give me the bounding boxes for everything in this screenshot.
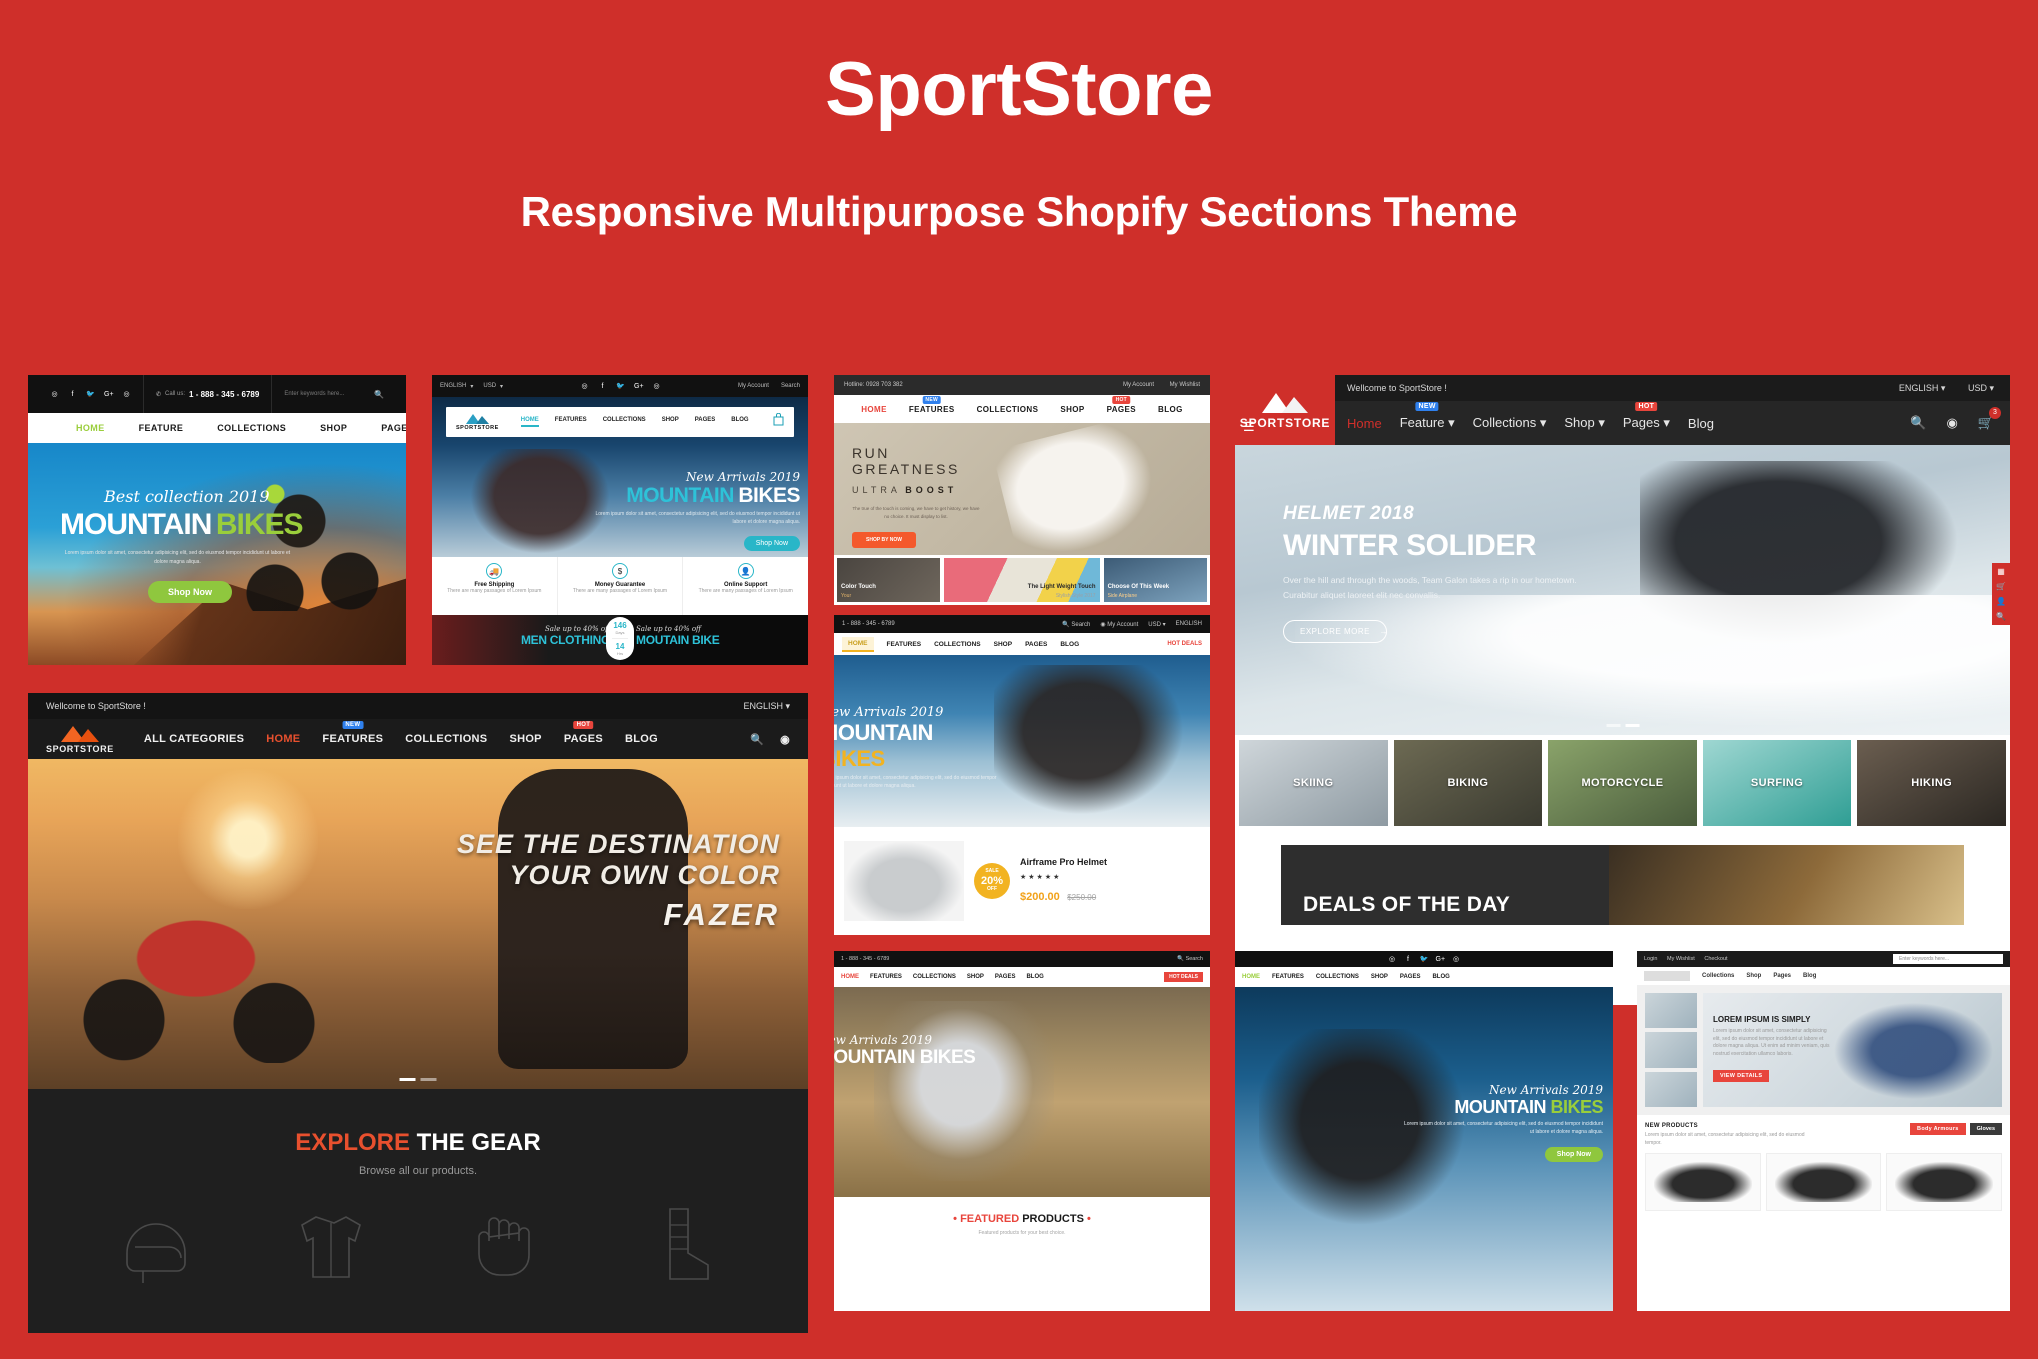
promo-title: MEN CLOTHING	[521, 633, 610, 647]
hero-paragraph: Over the hill and through the woods, Tea…	[1283, 573, 1583, 604]
shot5-hero: SEE THE DESTINATION YOUR OWN COLOR FAZER	[28, 759, 808, 1089]
nav-label: FEATURES	[322, 733, 383, 745]
hero-paragraph: Lorem ipsum dolor sit amet, consectetur …	[834, 775, 1000, 790]
phone-number: 1 - 888 - 345 - 6789	[189, 390, 259, 399]
hero-line1: SEE THE DESTINATION	[457, 829, 780, 860]
nav-label: PAGES	[1107, 405, 1136, 414]
nav-label: Collections	[1473, 415, 1537, 430]
new-products-title: NEW PRODUCTS	[1645, 1123, 1815, 1129]
hot-deals-link[interactable]: HOT DEALS	[1167, 641, 1202, 647]
feature-desc: There are many passages of Lorem Ipsum	[432, 588, 557, 596]
shot2-navbar: SPORTSTORE HOME FEATURES COLLECTIONS SHO…	[446, 407, 794, 437]
account-label: My Account	[1107, 622, 1138, 628]
hero-title: WINTER SOLIDER	[1283, 529, 1603, 563]
search-icon[interactable]: 🔍	[1910, 415, 1926, 431]
hero-paragraph: The true of the touch is coming, we have…	[852, 505, 980, 520]
nav-item-features[interactable]: FEATURES	[1272, 974, 1304, 980]
nav-item-shop[interactable]: SHOP	[1060, 405, 1084, 414]
shot5-navbar: SPORTSTORE ALL CATEGORIES HOME NEW FEATU…	[28, 719, 808, 759]
behance-icon[interactable]: ◎	[50, 390, 59, 399]
shot1-phone: ✆ Call us: 1 - 888 - 345 - 6789	[144, 375, 272, 413]
google-plus-icon[interactable]: G+	[634, 382, 643, 391]
search-icon[interactable]: 🔍	[362, 375, 396, 413]
shot2-features: 🚚 Free Shipping There are many passages …	[432, 557, 808, 615]
nav-item-collections[interactable]: COLLECTIONS	[405, 733, 487, 745]
shop-now-button[interactable]: Shop Now	[1545, 1147, 1603, 1162]
promo-kicker: Sale up to 40% off	[521, 625, 610, 633]
nav-item-home[interactable]: HOME	[841, 974, 859, 980]
hero-script: New Arrivals 2019	[834, 1033, 978, 1047]
nav-item-blog[interactable]: BLOG	[1432, 974, 1449, 980]
featured-dot-left: •	[953, 1213, 957, 1225]
nav-item-shop[interactable]: SHOP	[320, 423, 347, 433]
demo-thumb-mountain-bike-green[interactable]: ◎ f 🐦 G+ ◎ ✆ Call us: 1 - 888 - 345 - 67…	[28, 375, 406, 665]
cart-icon[interactable]: 🛒	[1996, 582, 2006, 591]
hero-script: New Arrivals 2019	[834, 705, 1000, 720]
thumb-1[interactable]	[1645, 993, 1697, 1028]
hamburger-icon[interactable]: ☰	[1243, 419, 1255, 435]
nav-item-feature[interactable]: FEATURE	[139, 423, 184, 433]
promo-men-clothing[interactable]: Sale up to 40% off MEN CLOTHING	[432, 615, 620, 665]
explore-accent: EXPLORE	[295, 1129, 410, 1156]
logo[interactable]	[1644, 971, 1690, 981]
behance-icon[interactable]: ◎	[1388, 955, 1397, 964]
instagram-icon[interactable]: ◎	[122, 390, 131, 399]
nav-item-features[interactable]: NEW FEATURES	[322, 733, 383, 745]
shot2-hero: SPORTSTORE HOME FEATURES COLLECTIONS SHO…	[432, 397, 808, 557]
hero-script: Best collection 2019	[104, 487, 320, 506]
cyclist-graphic	[994, 665, 1184, 815]
explore-heading: EXPLORE THE GEAR	[28, 1089, 808, 1157]
nav-item-blog[interactable]: BLOG	[1060, 641, 1079, 648]
explore-more-button[interactable]: EXPLORE MORE	[1283, 620, 1387, 643]
nav-item-shop[interactable]: SHOP	[662, 417, 679, 427]
hero-paragraph: Lorem ipsum dolor sit amet, consectetur …	[1403, 1121, 1603, 1136]
search-link[interactable]: 🔍 Search	[1177, 956, 1203, 962]
search-placeholder: Enter keywords here...	[284, 391, 344, 397]
nav-item-home[interactable]: Home	[1347, 416, 1382, 431]
currency-selector[interactable]: USD	[1968, 383, 1987, 393]
phone-number: 1 - 888 - 345 - 6789	[841, 956, 889, 962]
badge-hot: HOT	[1636, 402, 1658, 411]
hero-title-accent: BIKES	[1550, 1097, 1603, 1117]
nav-item-pages[interactable]: HOT Pages ▾	[1623, 415, 1670, 431]
truck-icon: 🚚	[486, 563, 502, 579]
badge-hot: HOT	[574, 721, 594, 729]
shot7-topbar: 1 - 888 - 345 - 6789 🔍 Search	[834, 951, 1210, 967]
nav-item-shop[interactable]: SHOP	[1371, 974, 1388, 980]
nav-item-blog[interactable]: BLOG	[1026, 974, 1043, 980]
feature-online-support: 👤 Online Support There are many passages…	[683, 557, 808, 615]
search-label: Search	[1186, 956, 1203, 962]
shot4-categories: SKIING BIKING MOTORCYCLE SURFING HIKING	[1235, 735, 2010, 831]
shot1-search[interactable]: Enter keywords here...	[272, 375, 362, 413]
logo-text: SPORTSTORE	[46, 744, 114, 754]
glove-icon[interactable]	[463, 1201, 549, 1287]
nav-item-pages[interactable]: Pages	[1773, 973, 1791, 979]
nav-item-collections[interactable]: COLLECTIONS	[913, 974, 956, 980]
search-label: Search	[1071, 622, 1090, 628]
page-title: SportStore	[0, 52, 2038, 128]
nav-item-home[interactable]: HOME	[266, 733, 300, 745]
currency-label: USD	[1148, 622, 1161, 628]
user-icon[interactable]: 👤	[1996, 597, 2006, 606]
badge-new: NEW	[1416, 402, 1439, 411]
currency-selector[interactable]: USD	[483, 383, 496, 389]
motocross-rider-graphic	[874, 1001, 1054, 1181]
nav-item-features[interactable]: NEW FEATURES	[909, 405, 955, 414]
nav-item-collections[interactable]: COLLECTIONS	[1316, 974, 1359, 980]
cart-badge: 3	[1989, 407, 2001, 419]
category-surfing[interactable]: SURFING	[1703, 740, 1852, 826]
demo-thumb-fazer-motorcycle[interactable]: Wellcome to SportStore ! ENGLISH ▾ SPORT…	[28, 693, 808, 1333]
shot6-hero: New Arrivals 2019 MOUNTAIN BIKES Lorem i…	[834, 655, 1210, 827]
shot7-navbar: HOME FEATURES COLLECTIONS SHOP PAGES BLO…	[834, 967, 1210, 987]
nav-label: Pages	[1623, 415, 1660, 430]
account-link[interactable]: My Account	[1123, 382, 1154, 388]
nav-item-collections[interactable]: COLLECTIONS	[217, 423, 286, 433]
nav-item-pages[interactable]: PAGES	[1400, 974, 1421, 980]
shot1-navbar: HOME FEATURE COLLECTIONS SHOP PAGES BLOG	[28, 413, 406, 443]
screenshot-grid: ◎ f 🐦 G+ ◎ ✆ Call us: 1 - 888 - 345 - 67…	[0, 375, 2038, 1335]
instagram-icon[interactable]: ◎	[652, 382, 661, 391]
phone-icon: ✆	[156, 391, 161, 398]
search-input[interactable]: Enter keywords here...	[1893, 954, 2003, 964]
card-title: Color Touch	[841, 584, 876, 590]
explore-rest: THE GEAR	[417, 1129, 541, 1156]
dollar-icon: $	[612, 563, 628, 579]
shot9-topbar: Login My Wishlist Checkout Enter keyword…	[1637, 951, 2010, 967]
card-color-touch[interactable]: Color Touch Your	[837, 558, 940, 602]
nav-item-home[interactable]: HOME	[842, 637, 874, 652]
hero-brand: FAZER	[457, 897, 780, 933]
sneaker-graphic	[992, 415, 1166, 566]
hero-title-accent: BIKES	[834, 746, 885, 771]
shop-now-button[interactable]: SHOP BY NOW	[852, 532, 916, 548]
shot2-promos: Sale up to 40% off MEN CLOTHING Sale up …	[432, 615, 808, 665]
nav-item-all-categories[interactable]: ALL CATEGORIES	[144, 733, 244, 745]
masthead: SportStore Responsive Multipurpose Shopi…	[0, 0, 2038, 236]
countdown-unit: Hrs	[606, 651, 634, 656]
badge-new: NEW	[922, 396, 941, 404]
new-products-section: NEW PRODUCTS Lorem ipsum dolor sit amet,…	[1637, 1115, 2010, 1219]
feature-free-shipping: 🚚 Free Shipping There are many passages …	[432, 557, 558, 615]
nav-item-blog[interactable]: BLOG	[1158, 405, 1183, 414]
nav-item-pages[interactable]: PAGES	[695, 417, 716, 427]
login-link[interactable]: Login	[1644, 956, 1657, 962]
nav-item-home[interactable]: HOME	[521, 417, 539, 427]
hero-script: New Arrivals 2019	[590, 470, 800, 484]
nav-item-collections[interactable]: COLLECTIONS	[977, 405, 1039, 414]
mountain-logo-icon	[1258, 391, 1312, 413]
mountain-logo-icon	[58, 724, 102, 742]
shot6-topbar: 1 - 888 - 345 - 6789 🔍 Search ◉ My Accou…	[834, 615, 1210, 633]
hero-title: MOUNTAIN BIKES	[834, 1047, 978, 1069]
nav-item-pages[interactable]: PAGES	[1025, 641, 1047, 648]
shot9-navbar: Collections Shop Pages Blog	[1637, 967, 2010, 985]
product-image	[844, 841, 964, 921]
category-skiing[interactable]: SKIING	[1239, 740, 1388, 826]
hero-kicker: HELMET 2018	[1283, 503, 1603, 525]
hero-title-white: MOUNTAIN	[834, 720, 933, 745]
call-us-label: Call us:	[165, 391, 185, 397]
nav-item-collections[interactable]: Collections ▾	[1473, 415, 1547, 431]
page-subtitle: Responsive Multipurpose Shopify Sections…	[0, 188, 2038, 236]
account-link[interactable]: ◉ My Account	[1100, 621, 1138, 628]
demo-thumb-product-detail[interactable]: Login My Wishlist Checkout Enter keyword…	[1637, 951, 2010, 1311]
category-motorcycle[interactable]: MOTORCYCLE	[1548, 740, 1697, 826]
nav-item-shop[interactable]: SHOP	[994, 641, 1012, 648]
countdown-value: 146	[606, 621, 634, 630]
facebook-icon[interactable]: f	[598, 382, 607, 391]
badge-hot: HOT	[1113, 396, 1130, 404]
nav-item-blog[interactable]: BLOG	[625, 733, 658, 745]
tab-body-armours[interactable]: Body Armours	[1910, 1123, 1966, 1135]
twitter-icon[interactable]: 🐦	[86, 390, 95, 399]
cart-icon[interactable]	[773, 413, 784, 431]
hero-paragraph: Lorem ipsum dolor sit amet, consectetur …	[60, 549, 295, 567]
nav-label: Feature	[1400, 415, 1445, 430]
view-details-button[interactable]: VIEW DETAILS	[1713, 1070, 1769, 1082]
nav-label: Shop	[1564, 415, 1594, 430]
category-label: MOTORCYCLE	[1548, 777, 1697, 789]
nav-item-blog[interactable]: Blog	[1803, 973, 1816, 979]
helmet-icon[interactable]	[113, 1201, 199, 1287]
badge-new: NEW	[342, 721, 363, 729]
promo-title: MOUTAIN BIKE	[636, 633, 720, 647]
card-subtitle: Your	[841, 593, 851, 599]
checkout-link[interactable]: Checkout	[1704, 956, 1727, 962]
nav-item-shop[interactable]: Shop	[1746, 973, 1761, 979]
nav-item-home[interactable]: HOME	[1242, 974, 1260, 980]
account-link[interactable]: My Account	[738, 383, 769, 389]
welcome-text: Wellcome to SportStore !	[46, 701, 146, 711]
language-selector[interactable]: ENGLISH ▾	[743, 701, 790, 712]
twitter-icon[interactable]: 🐦	[1420, 955, 1429, 964]
search-icon[interactable]: 🔍	[1996, 612, 2006, 621]
dirtbike-graphic	[1831, 1001, 1996, 1101]
language-label: ENGLISH	[1176, 621, 1202, 627]
wishlist-link[interactable]: My Wishlist	[1667, 956, 1695, 962]
language-selector[interactable]: ENGLISH	[1899, 383, 1939, 393]
shot8-topbar: ◎ f 🐦 G+ ◎	[1235, 951, 1613, 967]
product-title: LOREM IPSUM IS SIMPLY	[1713, 1015, 1833, 1024]
demo-thumb-sneakers[interactable]: Hotline: 0928 703 382 My Account My Wish…	[834, 375, 1210, 605]
nav-item-pages[interactable]: PAGES	[995, 974, 1016, 980]
hotline-text: Hotline: 0928 703 382	[844, 382, 903, 388]
hero-line2: YOUR OWN COLOR	[457, 860, 780, 891]
countdown-value: 14	[606, 642, 634, 651]
product-title: Airframe Pro Helmet	[1020, 857, 1200, 867]
nav-label: FEATURES	[909, 405, 955, 414]
nav-item-blog[interactable]: BLOG	[731, 417, 748, 427]
feature-desc: There are many passages of Lorem Ipsum	[683, 588, 808, 596]
card-subtitle: Stylish Style 2017	[1056, 593, 1096, 599]
shot6-navbar: HOME FEATURES COLLECTIONS SHOP PAGES BLO…	[834, 633, 1210, 655]
sale-bottom: OFF	[987, 887, 997, 893]
featured-dot-right: •	[1087, 1213, 1091, 1225]
search-link[interactable]: Search	[781, 383, 800, 389]
language-selector[interactable]: ENGLISH	[440, 383, 466, 389]
product-tile[interactable]	[1645, 1153, 1761, 1211]
card-title: Choose Of This Week	[1108, 584, 1170, 590]
shot3-hero: RUN GREATNESS ULTRA BOOST The true of th…	[834, 423, 1210, 555]
deals-of-the-day-banner[interactable]: DEALS OF THE DAY	[1281, 845, 1964, 925]
promo-mountain-bike[interactable]: Sale up to 40% off MOUTAIN BIKE	[620, 615, 808, 665]
nav-item-shop[interactable]: Shop ▾	[1564, 415, 1605, 431]
card-subtitle: Side Airplane	[1108, 593, 1137, 599]
side-rail[interactable]: ▦ 🛒 👤 🔍	[1992, 563, 2010, 625]
nav-item-shop[interactable]: SHOP	[509, 733, 541, 745]
hero-title-accent: MOUNTAIN	[626, 484, 734, 507]
promo-page: SportStore Responsive Multipurpose Shopi…	[0, 0, 2038, 1359]
feature-money-guarantee: $ Money Guarantee There are many passage…	[558, 557, 684, 615]
gear-icon-row	[28, 1201, 808, 1287]
hero-paragraph: Lorem ipsum dolor sit amet, consectetur …	[590, 511, 800, 526]
shot2-topbar: ENGLISH ▾ USD ▾ ◎ f 🐦 G+ ◎ My Account Se…	[432, 375, 808, 397]
twitter-icon[interactable]: 🐦	[616, 382, 625, 391]
shot1-hero: Best collection 2019 MOUNTAIN BIKES Lore…	[28, 443, 406, 665]
nav-label: PAGES	[564, 733, 603, 745]
hero-script: New Arrivals 2019	[1403, 1083, 1603, 1097]
shot3-navbar: HOME NEW FEATURES COLLECTIONS SHOP HOT P…	[834, 395, 1210, 423]
product-paragraph: Lorem ipsum dolor sit amet, consectetur …	[1713, 1028, 1833, 1058]
product-grid	[1645, 1153, 2002, 1211]
sale-badge: SALE 20% OFF	[974, 863, 1010, 899]
nav-item-collections[interactable]: COLLECTIONS	[603, 417, 646, 427]
logo-text: SPORTSTORE	[456, 425, 499, 431]
grid-icon[interactable]: ▦	[1997, 567, 2005, 576]
thumb-3[interactable]	[1645, 1072, 1697, 1107]
nav-item-feature[interactable]: NEW Feature ▾	[1400, 415, 1455, 431]
shot3-cards: Color Touch Your The Light Weight Touch …	[834, 555, 1210, 605]
hero-subtitle-light: ULTRA	[852, 485, 901, 495]
language-label: ENGLISH	[743, 701, 783, 711]
glove-image	[1775, 1162, 1873, 1202]
thumbnail-strip[interactable]	[1645, 993, 1697, 1107]
rider-graphic	[470, 449, 610, 554]
thumb-2[interactable]	[1645, 1032, 1697, 1067]
search-link[interactable]: 🔍 Search	[1062, 621, 1090, 628]
shot3-topbar: Hotline: 0928 703 382 My Account My Wish…	[834, 375, 1210, 395]
facebook-icon[interactable]: f	[68, 390, 77, 399]
nav-item-home[interactable]: HOME	[76, 423, 105, 433]
motorcycle-graphic	[58, 883, 358, 1063]
hero-title-white: MOUNTAIN	[1454, 1097, 1546, 1117]
demo-thumb-mountain-bike-blue[interactable]: ENGLISH ▾ USD ▾ ◎ f 🐦 G+ ◎ My Account Se…	[432, 375, 808, 665]
cart-icon[interactable]: 🛒 3	[1978, 415, 1994, 431]
shop-now-button[interactable]: Shop Now	[744, 536, 800, 551]
hot-deals-badge[interactable]: HOT DEALS	[1164, 972, 1203, 982]
language-selector[interactable]: ENGLISH	[1176, 621, 1202, 628]
nav-item-features[interactable]: FEATURES	[555, 417, 587, 427]
account-icon[interactable]: ◉	[1946, 415, 1957, 431]
slider-dots[interactable]	[1606, 724, 1639, 727]
shot4-hero: HELMET 2018 WINTER SOLIDER Over the hill…	[1235, 445, 2010, 735]
explore-the-gear-section: EXPLORE THE GEAR Browse all our products…	[28, 1089, 808, 1333]
logo[interactable]: SPORTSTORE	[46, 724, 114, 754]
wishlist-link[interactable]: My Wishlist	[1170, 382, 1200, 388]
tab-gloves[interactable]: Gloves	[1970, 1123, 2002, 1135]
hero-banner: LOREM IPSUM IS SIMPLY Lorem ipsum dolor …	[1703, 993, 2002, 1107]
shot9-hero: LOREM IPSUM IS SIMPLY Lorem ipsum dolor …	[1637, 985, 2010, 1115]
shot1-social-row: ◎ f 🐦 G+ ◎	[38, 375, 144, 413]
nav-item-pages[interactable]: HOT PAGES	[1107, 405, 1136, 414]
shop-now-button[interactable]: Shop Now	[148, 581, 232, 603]
shot5-topbar: Wellcome to SportStore ! ENGLISH ▾	[28, 693, 808, 719]
hero-title-dark: BIKES	[738, 484, 800, 507]
nav-item-features[interactable]: FEATURES	[887, 641, 922, 648]
product-rating: ★★★★★	[1020, 873, 1200, 881]
demo-thumb-mountain-bikes-product[interactable]: 1 - 888 - 345 - 6789 🔍 Search ◉ My Accou…	[834, 615, 1210, 935]
slider-dots[interactable]	[400, 1078, 437, 1081]
shot7-hero: New Arrivals 2019 MOUNTAIN BIKES	[834, 987, 1210, 1197]
card-light-weight[interactable]: The Light Weight Touch Stylish Style 201…	[944, 558, 1099, 602]
nav-item-features[interactable]: FEATURES	[870, 974, 902, 980]
search-icon[interactable]: 🔍	[750, 733, 764, 746]
boot-icon[interactable]	[638, 1201, 724, 1287]
category-label: HIKING	[1857, 777, 2006, 789]
category-label: SURFING	[1703, 777, 1852, 789]
welcome-text: Wellcome to SportStore !	[1347, 383, 1447, 393]
account-icon[interactable]: ◉	[780, 733, 790, 746]
nav-item-home[interactable]: HOME	[861, 405, 887, 414]
category-hiking[interactable]: HIKING	[1857, 740, 2006, 826]
facebook-icon[interactable]: f	[1404, 955, 1413, 964]
nav-item-collections[interactable]: COLLECTIONS	[934, 641, 981, 648]
card-choose-week[interactable]: Choose Of This Week Side Airplane	[1104, 558, 1207, 602]
mountain-logo-icon	[464, 413, 490, 424]
nav-item-pages[interactable]: HOT PAGES	[564, 733, 603, 745]
featured-subtitle: Featured products for your best choice.	[834, 1230, 1210, 1236]
promo-kicker: Sale up to 40% off	[636, 625, 720, 633]
hero-title: RUN GREATNESS	[852, 445, 1002, 477]
product-tile[interactable]	[1766, 1153, 1882, 1211]
product-price: $200.00	[1020, 891, 1060, 903]
nav-item-pages[interactable]: PAGES	[381, 423, 406, 433]
demo-thumb-winter-solider[interactable]: SPORTSTORE ☰ Wellcome to SportStore ! EN…	[1235, 375, 2010, 1005]
logo[interactable]: SPORTSTORE	[456, 413, 499, 431]
google-plus-icon[interactable]: G+	[1436, 955, 1445, 964]
countdown-unit: Days	[606, 630, 634, 635]
explore-subtitle: Browse all our products.	[28, 1165, 808, 1177]
shot8-navbar: HOME FEATURES COLLECTIONS SHOP PAGES BLO…	[1235, 967, 1613, 987]
demo-thumb-motocross[interactable]: 1 - 888 - 345 - 6789 🔍 Search HOME FEATU…	[834, 951, 1210, 1311]
user-icon: 👤	[738, 563, 754, 579]
nav-item-collections[interactable]: Collections	[1702, 973, 1734, 979]
jacket-icon[interactable]	[288, 1201, 374, 1287]
instagram-icon[interactable]: ◎	[1452, 955, 1461, 964]
product-card[interactable]: SALE 20% OFF Airframe Pro Helmet ★★★★★ $…	[834, 827, 1210, 935]
nav-item-shop[interactable]: SHOP	[967, 974, 984, 980]
category-biking[interactable]: BIKING	[1394, 740, 1543, 826]
shot1-topbar: ◎ f 🐦 G+ ◎ ✆ Call us: 1 - 888 - 345 - 67…	[28, 375, 406, 413]
shot4-navbar: Home NEW Feature ▾ Collections ▾ Shop ▾ …	[1235, 401, 2010, 445]
behance-icon[interactable]: ◎	[580, 382, 589, 391]
product-tile[interactable]	[1886, 1153, 2002, 1211]
nav-item-blog[interactable]: Blog	[1688, 416, 1714, 431]
card-title: The Light Weight Touch	[1028, 584, 1096, 590]
hero-subtitle-bold: BOOST	[905, 485, 957, 495]
currency-selector[interactable]: USD ▾	[1148, 621, 1165, 628]
glove-image	[1895, 1162, 1993, 1202]
featured-title-rest: PRODUCTS	[1022, 1213, 1084, 1225]
google-plus-icon[interactable]: G+	[104, 390, 113, 399]
category-label: SKIING	[1239, 777, 1388, 789]
demo-thumb-snow-bike[interactable]: ◎ f 🐦 G+ ◎ HOME FEATURES COLLECTIONS SHO…	[1235, 951, 1613, 1311]
deals-title: DEALS OF THE DAY	[1303, 893, 1510, 917]
phone-number: 1 - 888 - 345 - 6789	[842, 621, 895, 627]
